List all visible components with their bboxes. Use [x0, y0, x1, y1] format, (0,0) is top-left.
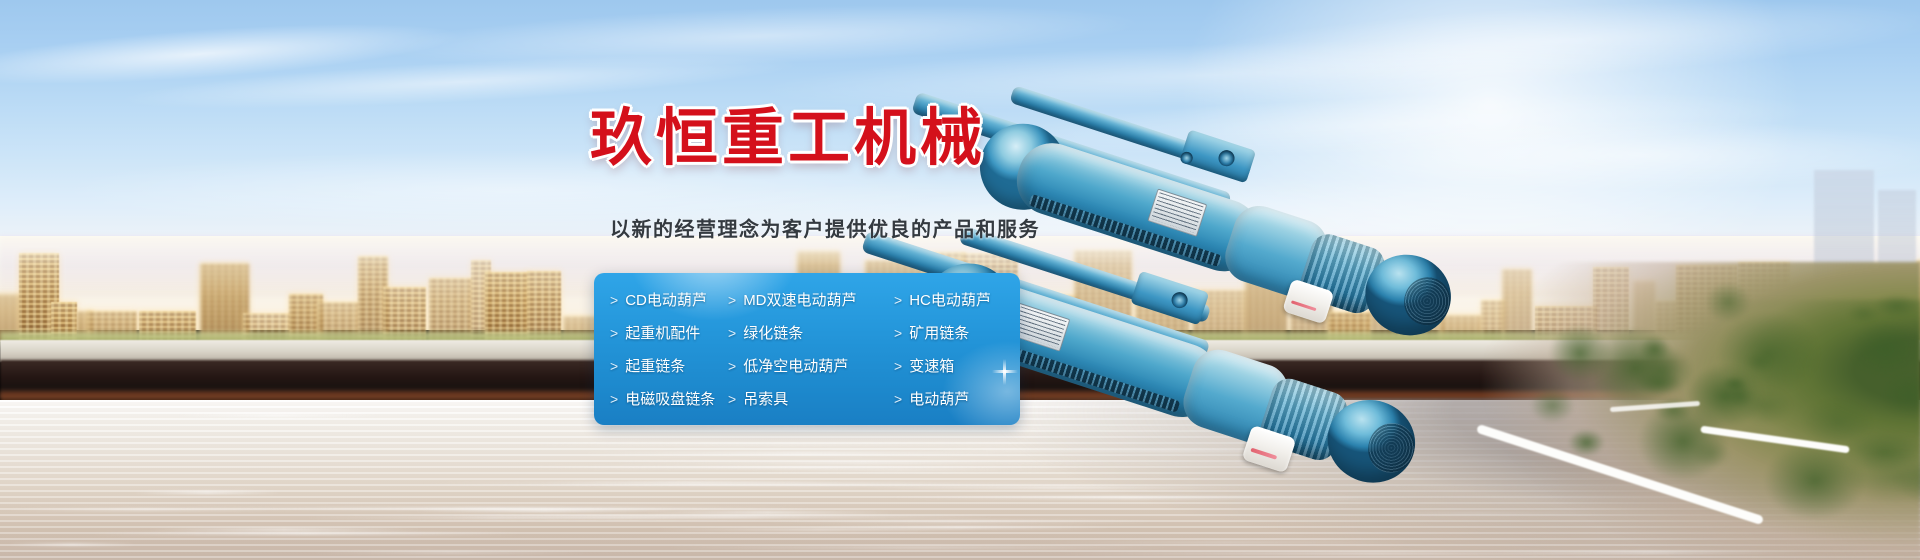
product-link-label: 起重机配件: [625, 322, 700, 343]
motion-streak: [148, 528, 420, 531]
motion-streak: [312, 551, 589, 554]
page-title: 玖恒重工机械: [590, 108, 986, 170]
motion-streak: [415, 509, 673, 512]
chevron-right-icon: >: [610, 292, 618, 308]
product-link-label: 变速箱: [909, 355, 954, 376]
motion-streak: [8, 508, 282, 511]
product-link[interactable]: >CD电动葫芦: [610, 283, 728, 316]
motion-streak: [92, 532, 520, 535]
chevron-right-icon: >: [610, 391, 618, 407]
product-link-label: 电动葫芦: [909, 388, 969, 409]
chevron-right-icon: >: [894, 292, 902, 308]
chevron-right-icon: >: [728, 325, 736, 341]
product-link-label: 绿化链条: [743, 322, 803, 343]
motion-streak: [134, 491, 280, 494]
page-subtitle: 以新的经营理念为客户提供优良的产品和服务: [610, 220, 1040, 240]
chevron-right-icon: >: [894, 358, 902, 374]
chevron-right-icon: >: [610, 325, 618, 341]
product-link[interactable]: >低净空电动葫芦: [728, 349, 878, 382]
product-link[interactable]: >吊索具: [728, 382, 878, 415]
product-link[interactable]: >变速箱: [878, 349, 1020, 382]
chevron-right-icon: >: [728, 391, 736, 407]
chevron-right-icon: >: [894, 391, 902, 407]
chevron-right-icon: >: [610, 358, 618, 374]
product-link-label: HC电动葫芦: [909, 289, 991, 310]
chevron-right-icon: >: [894, 325, 902, 341]
hoist-lug: [1130, 271, 1209, 326]
product-link-label: 矿用链条: [909, 322, 969, 343]
product-link[interactable]: >矿用链条: [878, 316, 1020, 349]
motion-streak: [175, 414, 380, 417]
promo-banner: 玖恒重工机械 以新的经营理念为客户提供优良的产品和服务 >CD电动葫芦>MD双速…: [0, 0, 1920, 560]
motion-streak: [8, 543, 136, 546]
product-link[interactable]: >电磁吸盘链条: [610, 382, 728, 415]
product-link-label: CD电动葫芦: [625, 289, 707, 310]
product-link[interactable]: >HC电动葫芦: [878, 283, 1020, 316]
product-link-label: 起重链条: [625, 355, 685, 376]
product-link-grid: >CD电动葫芦>MD双速电动葫芦>HC电动葫芦>起重机配件>绿化链条>矿用链条>…: [594, 273, 1020, 425]
chevron-right-icon: >: [728, 358, 736, 374]
chevron-right-icon: >: [728, 292, 736, 308]
product-link[interactable]: >起重机配件: [610, 316, 728, 349]
skyline-building: [200, 263, 249, 342]
product-link[interactable]: >起重链条: [610, 349, 728, 382]
product-link-label: 电磁吸盘链条: [625, 388, 715, 409]
product-link[interactable]: >MD双速电动葫芦: [728, 283, 878, 316]
product-link[interactable]: >绿化链条: [728, 316, 878, 349]
product-links-panel: >CD电动葫芦>MD双速电动葫芦>HC电动葫芦>起重机配件>绿化链条>矿用链条>…: [594, 273, 1020, 425]
product-link-label: MD双速电动葫芦: [743, 289, 856, 310]
product-link[interactable]: >电动葫芦: [878, 382, 1020, 415]
product-link-label: 吊索具: [743, 388, 788, 409]
product-link-label: 低净空电动葫芦: [743, 355, 848, 376]
